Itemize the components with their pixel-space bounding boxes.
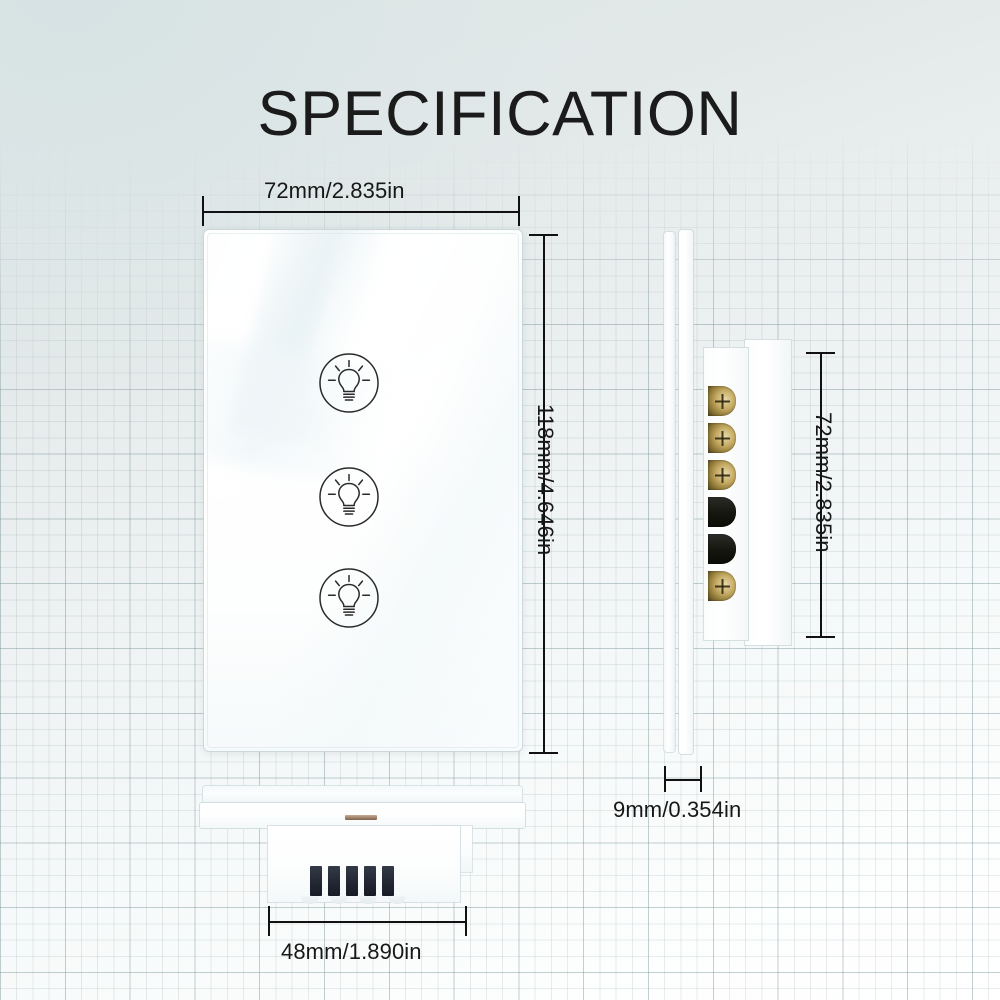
vent-slot-5	[382, 866, 394, 896]
dimension-label-front-height: 118mm/4.646in	[532, 404, 558, 555]
side-view-frame-bar	[679, 230, 693, 754]
side-view-body-extension	[745, 340, 791, 645]
dimension-line-side-thickness	[664, 779, 700, 781]
dimension-line-front-width	[202, 211, 518, 213]
specification-diagram: SPECIFICATION	[0, 0, 1000, 1000]
dimension-tick-right	[518, 196, 520, 226]
light-bulb-icon	[318, 567, 380, 629]
dimension-tick-side-top	[806, 352, 835, 354]
touch-button-3[interactable]	[318, 567, 380, 629]
bottom-notch-1	[301, 896, 319, 904]
dimension-label-front-width: 72mm/2.835in	[264, 178, 405, 204]
dimension-tick-side-bottom	[806, 636, 835, 638]
front-view-glass-panel	[204, 230, 522, 751]
terminal-6	[708, 571, 736, 601]
vent-slot-1	[310, 866, 322, 896]
bottom-view-indicator-slot	[345, 815, 377, 820]
light-bulb-icon	[318, 466, 380, 528]
bottom-notch-4	[388, 896, 406, 904]
dimension-tick-left	[202, 196, 204, 226]
terminal-1	[708, 386, 736, 416]
vent-slot-2	[328, 866, 340, 896]
page-title: SPECIFICATION	[0, 78, 1000, 150]
bottom-notch-3	[359, 896, 377, 904]
touch-button-1[interactable]	[318, 352, 380, 414]
dimension-line-bottom-width	[268, 921, 465, 923]
dimension-tick-bottom	[529, 752, 558, 754]
vent-slot-3	[346, 866, 358, 896]
dimension-tick-bottom-left	[268, 906, 270, 936]
touch-button-2[interactable]	[318, 466, 380, 528]
vent-slot-4	[364, 866, 376, 896]
terminal-2	[708, 423, 736, 453]
bottom-view-glass-edge	[203, 786, 522, 804]
dimension-tick-top	[529, 234, 558, 236]
dimension-label-side-thickness: 9mm/0.354in	[613, 797, 741, 823]
terminal-4	[708, 497, 736, 527]
bottom-notch-2	[330, 896, 348, 904]
terminal-3	[708, 460, 736, 490]
dimension-label-bottom-width: 48mm/1.890in	[281, 939, 422, 965]
dimension-tick-thickness-right	[700, 766, 702, 792]
dimension-tick-bottom-right	[465, 906, 467, 936]
light-bulb-icon	[318, 352, 380, 414]
dimension-label-side-height: 72mm/2.835in	[810, 412, 836, 553]
terminal-5	[708, 534, 736, 564]
side-view-glass-edge	[664, 232, 675, 752]
dimension-tick-thickness-left	[664, 766, 666, 792]
